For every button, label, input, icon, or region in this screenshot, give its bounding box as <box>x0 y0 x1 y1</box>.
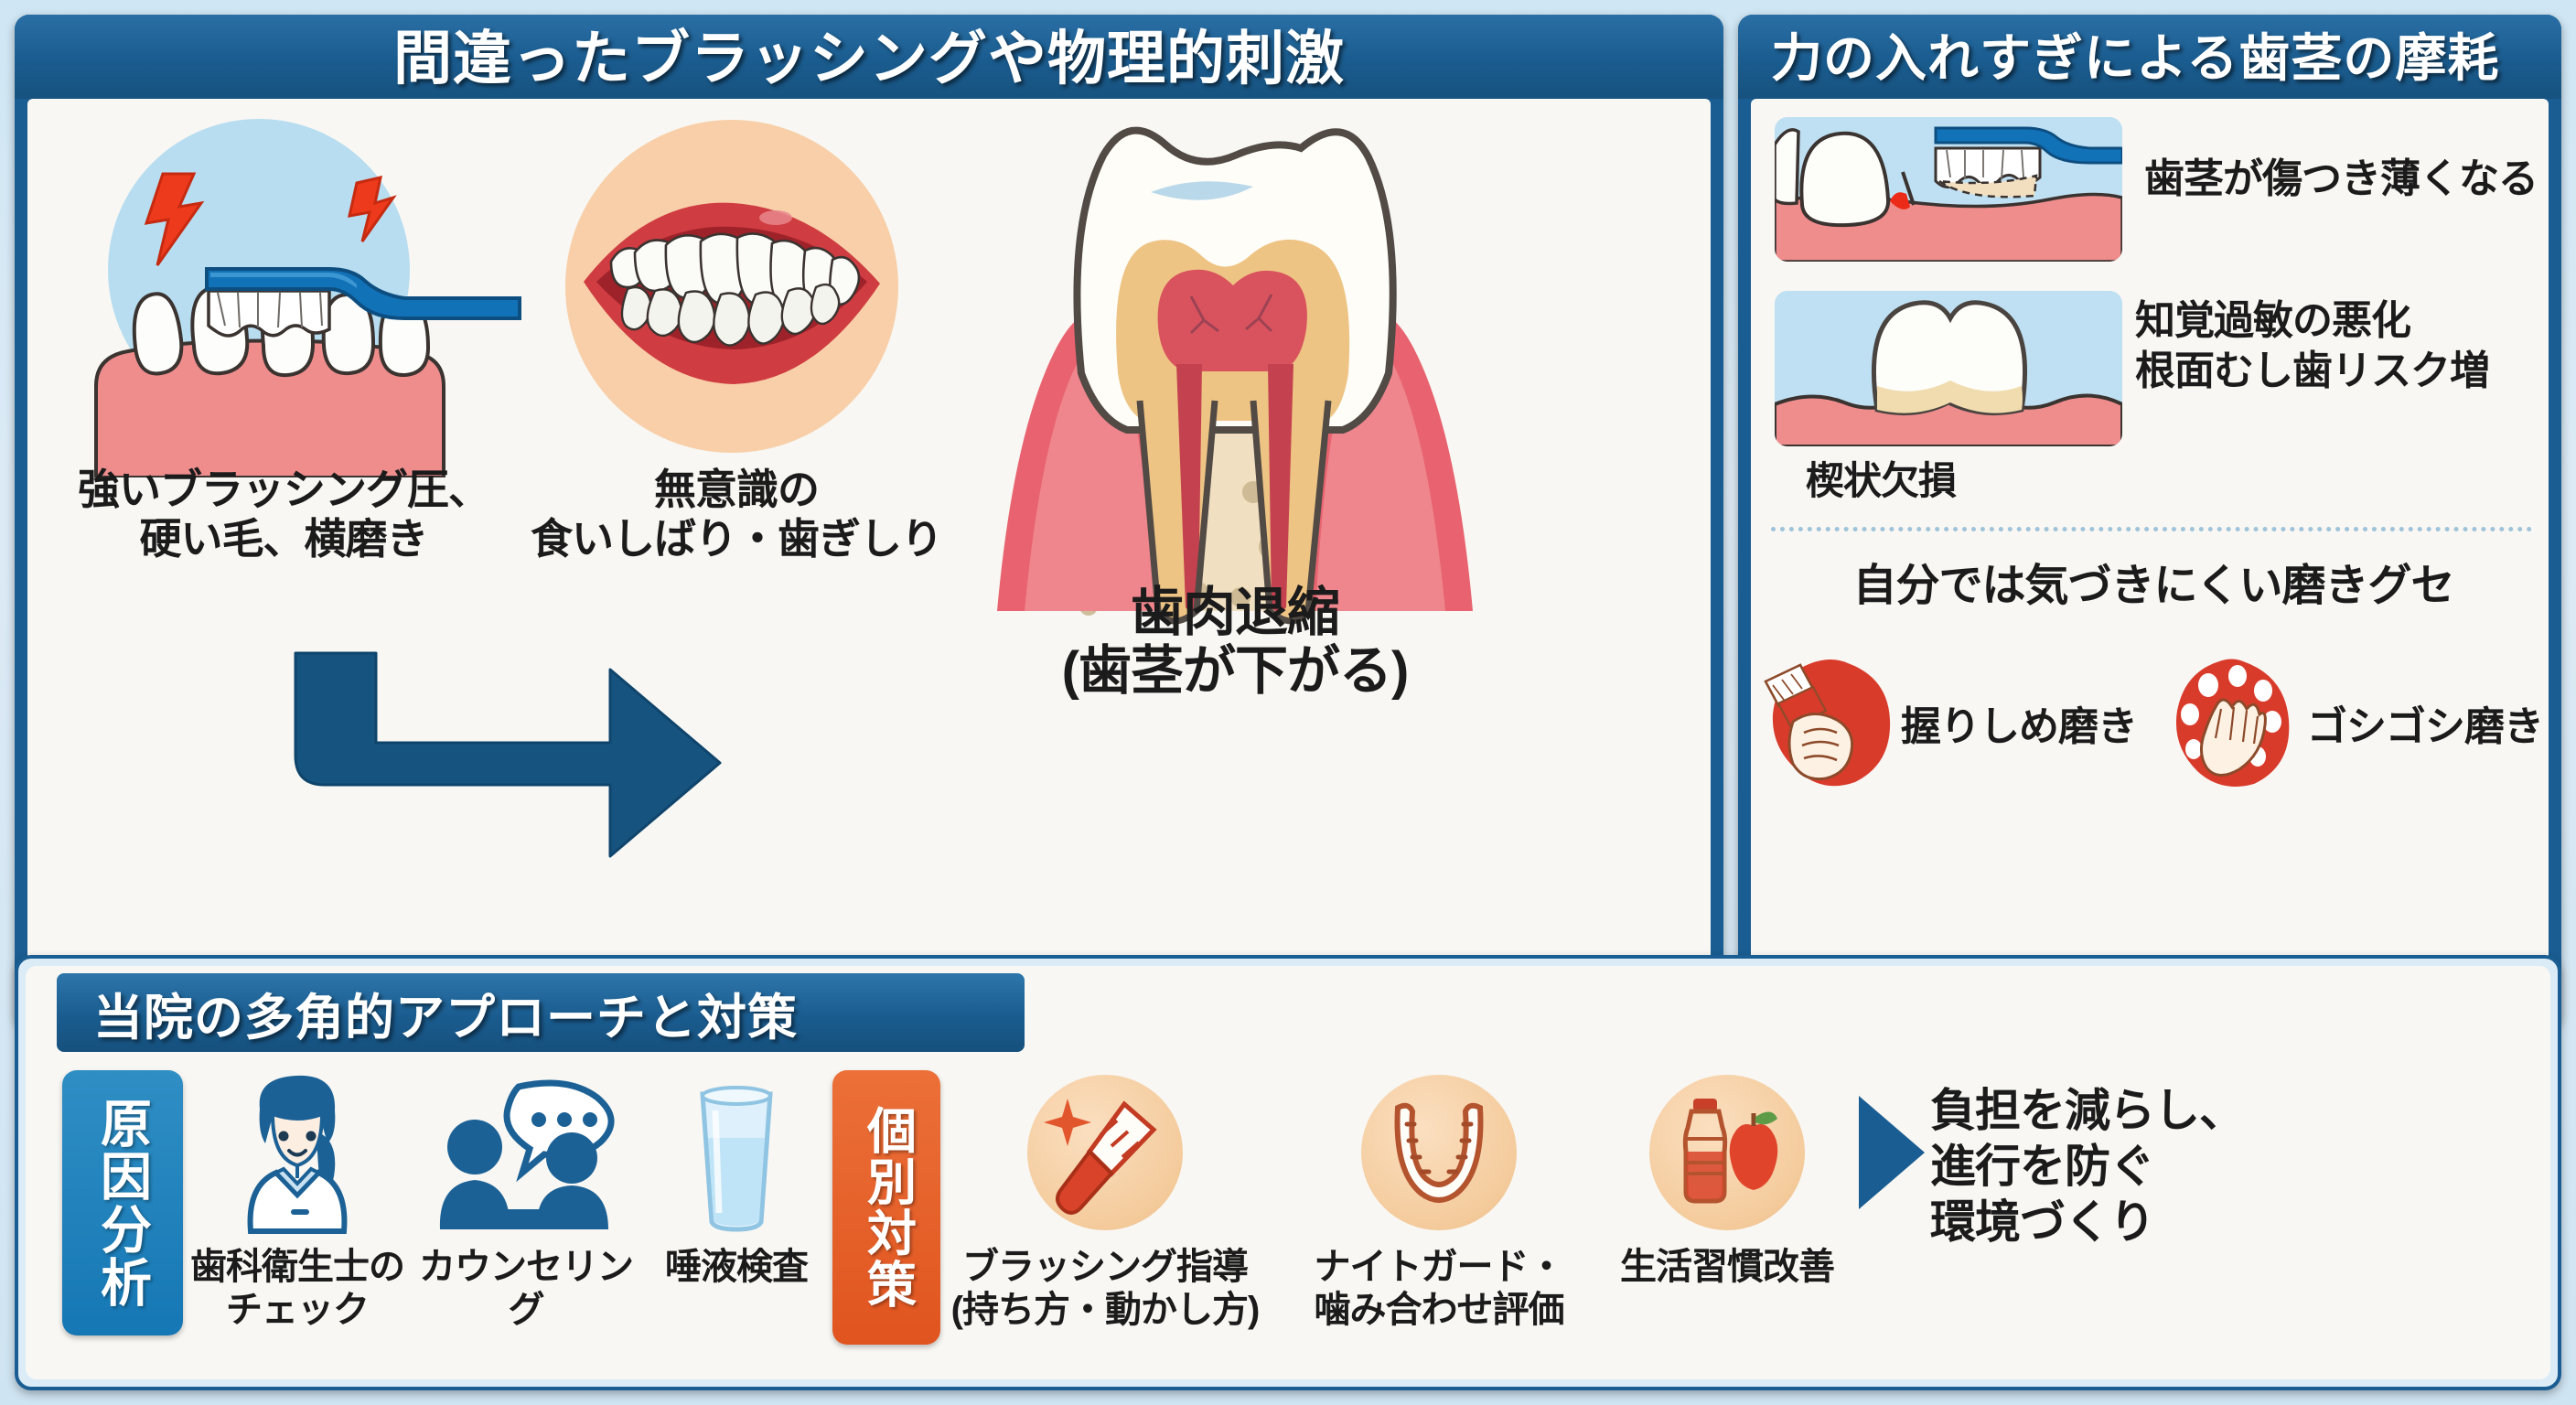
tag-individual-plan: 個別対策 <box>832 1070 940 1345</box>
item-hygienist: 歯科衛生士の チェック <box>183 1061 412 1332</box>
panel-a-body: 強いブラッシング圧、 硬い毛、横磨き 無意識の 食いしばり・歯ぎしり 歯肉退縮 … <box>27 99 1711 1015</box>
icon-badge <box>1027 1075 1183 1230</box>
list-item: 握りしめ磨き <box>1760 654 2137 791</box>
toothbrush-scrubbing-teeth-illustration <box>55 112 521 477</box>
item-label: 唾液検査 <box>640 1246 832 1289</box>
clenched-teeth-mouth-illustration <box>540 108 924 474</box>
item-brushing-guidance: ブラッシング指導 (持ち方・動かし方) <box>940 1061 1270 1332</box>
habit-label: ゴシゴシ磨き <box>2307 693 2543 752</box>
item-label: カウンセリング <box>412 1246 640 1332</box>
clenching-caption-line1: 無意識の <box>521 465 951 514</box>
item-label-line1: 歯科衛生士の <box>183 1246 412 1289</box>
panel-b-title: 力の入れすぎによる歯茎の摩耗 <box>1771 17 2499 97</box>
dotted-divider <box>1771 527 2532 531</box>
item-night-guard: ナイトガード・ 噛み合わせ評価 <box>1270 1061 1608 1332</box>
brushing-caption: 強いブラッシング圧、 硬い毛、横磨き <box>27 465 540 564</box>
panel-clinic-approach: 当院の多角的アプローチと対策 原因分析 <box>15 955 2561 1390</box>
bottle-apple-lifestyle-icon <box>1608 1061 1846 1244</box>
saliva-test-glass-icon <box>640 1061 832 1244</box>
item-label-line1: カウンセリング <box>412 1246 640 1332</box>
gum-injury-brushing-illustration <box>1775 117 2122 262</box>
wedge-defect-label: 楔状欠損 <box>1806 457 2117 506</box>
icon-badge <box>1649 1075 1805 1230</box>
clenched-fist-toothbrush-grip-icon <box>1760 654 1897 791</box>
panel-b-header: 力の入れすぎによる歯茎の摩耗 <box>1738 15 2561 99</box>
panel-c-body: 当院の多角的アプローチと対策 原因分析 <box>26 966 2550 1379</box>
panel-c-title: 当院の多角的アプローチと対策 <box>93 977 798 1049</box>
wedge-shaped-defect-tooth-illustration <box>1775 291 2122 446</box>
tag-plan-label: 個別対策 <box>861 1105 911 1310</box>
tag-cause-label: 原因分析 <box>96 1097 148 1309</box>
right-triangle-arrow-icon <box>1846 1061 1930 1244</box>
item-label: ブラッシング指導 (持ち方・動かし方) <box>940 1246 1270 1332</box>
item-label: 歯科衛生士の チェック <box>183 1246 412 1332</box>
habit-label: 握りしめ磨き <box>1901 693 2137 752</box>
panel-b-body: 歯茎が傷つき薄くなる 知覚過敏の悪化 根面むし歯リスク増 楔状欠損 自分では気づ… <box>1751 99 2549 1015</box>
outcome-line1: 負担を減らし、 <box>1930 1083 2244 1139</box>
item-label-line2: 噛み合わせ評価 <box>1270 1289 1608 1332</box>
sensitivity-line1: 知覚過敏の悪化 <box>2135 295 2561 346</box>
brushing-illustration <box>55 112 521 477</box>
item-saliva-test: 唾液検査 <box>640 1061 832 1289</box>
approach-row: 原因分析 <box>62 1061 2532 1363</box>
item-counseling: カウンセリング <box>412 1061 640 1332</box>
list-item: ゴシゴシ磨き <box>2166 654 2543 791</box>
item-label-line1: ナイトガード・ <box>1270 1246 1608 1289</box>
sensitivity-line2: 根面むし歯リスク増 <box>2135 346 2561 396</box>
bent-right-arrow-icon <box>288 648 727 858</box>
night-guard-mouthpiece-icon <box>1270 1061 1608 1244</box>
item-label-line2: (持ち方・動かし方) <box>940 1289 1270 1332</box>
dental-hygienist-icon <box>183 1061 412 1244</box>
brushing-caption-line1: 強いブラッシング圧、 <box>27 465 540 514</box>
tooth-cross-section <box>979 99 1491 666</box>
panel-a-title: 間違ったブラッシングや物理的刺激 <box>393 15 1345 102</box>
recession-caption: 歯肉退縮 (歯茎が下がる) <box>970 584 1500 701</box>
gum-damage-text: 歯茎が傷つき薄くなる <box>2144 154 2556 204</box>
counseling-people-speech-bubble-icon <box>412 1061 640 1244</box>
tooth-cross-section-illustration <box>979 99 1491 666</box>
clenching-caption: 無意識の 食いしばり・歯ぎしり <box>521 465 951 564</box>
habit-list: 握りしめ磨き <box>1760 640 2543 805</box>
wedge-defect-box <box>1775 291 2122 446</box>
item-label-line1: 唾液検査 <box>640 1246 832 1289</box>
toothbrush-sparkle-icon <box>940 1061 1270 1244</box>
item-label-line1: ブラッシング指導 <box>940 1246 1270 1289</box>
item-lifestyle: 生活習慣改善 <box>1608 1061 1846 1289</box>
item-label-line2: チェック <box>183 1289 412 1332</box>
gum-injury-box <box>1775 117 2122 262</box>
infographic-root: 間違ったブラッシングや物理的刺激 <box>0 0 2576 1405</box>
outcome-text: 負担を減らし、 進行を防ぐ 環境づくり <box>1930 1083 2244 1250</box>
panel-c-header: 当院の多角的アプローチと対策 <box>57 973 1025 1052</box>
item-label: 生活習慣改善 <box>1608 1246 1846 1289</box>
panel-a-header: 間違ったブラッシングや物理的刺激 <box>15 15 1723 99</box>
habit-heading: 自分では気づきにくい磨きグセ <box>1767 549 2539 613</box>
item-label: ナイトガード・ 噛み合わせ評価 <box>1270 1246 1608 1332</box>
icon-badge <box>1361 1075 1517 1230</box>
tag-cause-analysis: 原因分析 <box>62 1070 183 1335</box>
panel-incorrect-brushing: 間違ったブラッシングや物理的刺激 <box>15 15 1723 1028</box>
recession-caption-line1: 歯肉退縮 <box>970 584 1500 642</box>
clenching-mouth-illustration <box>540 108 924 474</box>
outcome-line3: 環境づくり <box>1930 1195 2244 1250</box>
sensitivity-text: 知覚過敏の悪化 根面むし歯リスク増 <box>2135 295 2561 396</box>
panel-excessive-force: 力の入れすぎによる歯茎の摩耗 <box>1738 15 2561 1028</box>
item-label-line1: 生活習慣改善 <box>1608 1246 1846 1289</box>
brushing-caption-line2: 硬い毛、横磨き <box>27 514 540 563</box>
scrubbing-hand-icon <box>2166 654 2303 791</box>
outcome-line2: 進行を防ぐ <box>1930 1139 2244 1195</box>
recession-caption-line2: (歯茎が下がる) <box>970 642 1500 701</box>
clenching-caption-line2: 食いしばり・歯ぎしり <box>521 514 951 563</box>
